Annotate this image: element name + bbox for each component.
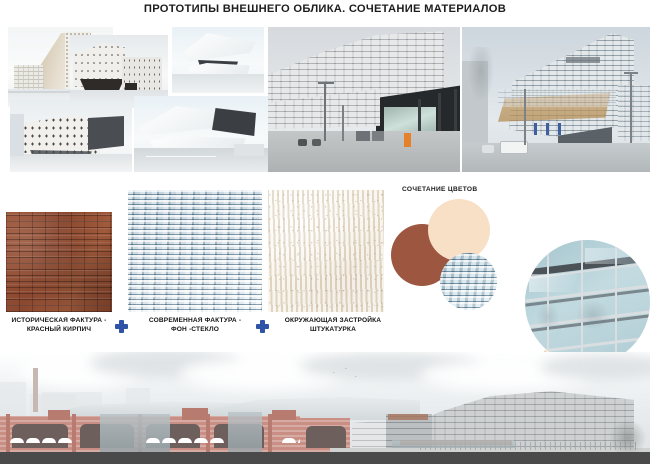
awning (210, 438, 224, 443)
reference-photo-render-long-white-facade (10, 100, 132, 172)
plus-icon-2 (256, 320, 269, 333)
awning (162, 438, 176, 443)
awning (146, 438, 160, 443)
reference-photo-render-white-sculptural-roof (172, 27, 264, 93)
material-caption-brick-line1: ИСТОРИЧЕСКАЯ ФАКТУРА - (0, 316, 118, 325)
color-combination-title: СОЧЕТАНИЕ ЦВЕТОВ (402, 186, 477, 193)
plus-icon (115, 320, 128, 333)
awning (282, 438, 296, 443)
reference-photo-glass-faceted-tower (462, 27, 650, 172)
site-elevation-drawing: ⌃ ⌃ ⌃ (0, 352, 650, 464)
page-title: ПРОТОТИПЫ ВНЕШНЕГО ОБЛИКА. СОЧЕТАНИЕ МАТ… (0, 3, 650, 15)
awning (26, 438, 40, 443)
color-circle-stucco-cream (428, 199, 490, 261)
awning (178, 438, 192, 443)
tree (608, 418, 648, 454)
reference-photo-grey-cantilever-building (268, 27, 460, 172)
awning (58, 438, 72, 443)
material-caption-stucco: ОКРУЖАЮЩАЯ ЗАСТРОЙКА ШТУКАТУРКА (272, 316, 394, 334)
awning (42, 438, 56, 443)
material-caption-brick-line2: КРАСНЫЙ КИРПИЧ (0, 325, 118, 334)
elevation-ground-strip (0, 452, 650, 464)
material-caption-brick: ИСТОРИЧЕСКАЯ ФАКТУРА - КРАСНЫЙ КИРПИЧ (0, 316, 118, 334)
stucco-texture-swatch (268, 190, 384, 312)
material-caption-glass-line1: СОВРЕМЕННАЯ ФАКТУРА - (134, 316, 256, 325)
glass-texture-swatch (128, 190, 262, 312)
material-caption-glass-line2: ФОН -СТЕКЛО (134, 325, 256, 334)
presentation-board: ПРОТОТИПЫ ВНЕШНЕГО ОБЛИКА. СОЧЕТАНИЕ МАТ… (0, 0, 650, 464)
historic-chimney (33, 368, 38, 412)
material-caption-stucco-line1: ОКРУЖАЮЩАЯ ЗАСТРОЙКА (272, 316, 394, 325)
color-circle-glass-blue (440, 253, 497, 310)
facade-detail-zoom-circle (525, 240, 650, 365)
material-caption-stucco-line2: ШТУКАТУРКА (272, 325, 394, 334)
wood-band (388, 414, 428, 420)
brick-texture-swatch (6, 212, 112, 312)
awning (10, 438, 24, 443)
material-caption-glass: СОВРЕМЕННАЯ ФАКТУРА - ФОН -СТЕКЛО (134, 316, 256, 334)
awning (194, 438, 208, 443)
reference-photo-render-sculptural-canopy-street (134, 96, 268, 172)
